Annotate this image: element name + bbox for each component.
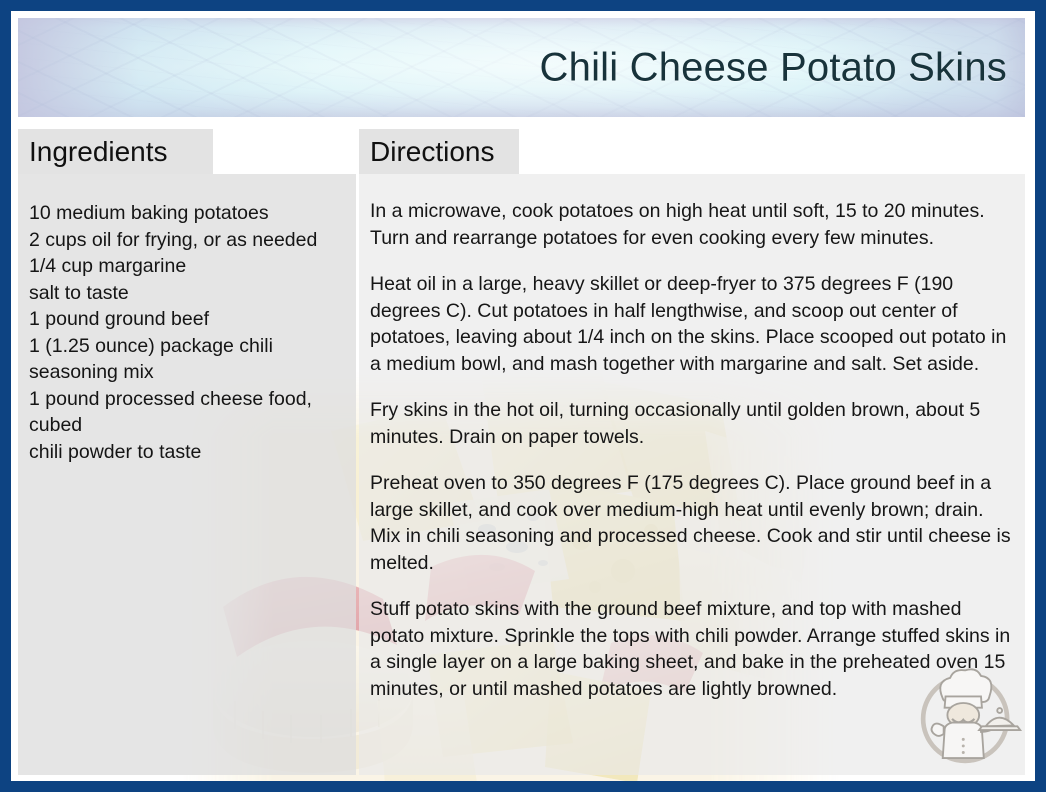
list-item: 1 (1.25 ounce) package chili seasoning m… [29, 333, 346, 386]
direction-step: Heat oil in a large, heavy skillet or de… [370, 271, 1013, 377]
direction-step: Fry skins in the hot oil, turning occasi… [370, 397, 1013, 450]
recipe-page: Chili Cheese Potato Skins [11, 11, 1035, 781]
list-item: 10 medium baking potatoes [29, 200, 346, 227]
direction-step: In a microwave, cook potatoes on high he… [370, 198, 1013, 251]
list-item: salt to taste [29, 280, 346, 307]
ingredients-tab: Ingredients [18, 129, 213, 174]
ingredients-panel: 10 medium baking potatoes 2 cups oil for… [18, 174, 356, 775]
directions-tab: Directions [359, 129, 519, 174]
list-item: 2 cups oil for frying, or as needed [29, 227, 346, 254]
directions-steps: In a microwave, cook potatoes on high he… [370, 198, 1013, 702]
list-item: 1/4 cup margarine [29, 253, 346, 280]
directions-panel: In a microwave, cook potatoes on high he… [359, 174, 1025, 775]
directions-heading: Directions [370, 138, 494, 166]
ingredients-list: 10 medium baking potatoes 2 cups oil for… [29, 200, 346, 465]
list-item: chili powder to taste [29, 439, 346, 466]
direction-step: Stuff potato skins with the ground beef … [370, 596, 1013, 702]
list-item: 1 pound processed cheese food, cubed [29, 386, 346, 439]
direction-step: Preheat oven to 350 degrees F (175 degre… [370, 470, 1013, 576]
list-item: 1 pound ground beef [29, 306, 346, 333]
title-banner: Chili Cheese Potato Skins [18, 18, 1025, 117]
recipe-card: Chili Cheese Potato Skins [0, 0, 1046, 792]
page-title: Chili Cheese Potato Skins [540, 45, 1007, 90]
ingredients-heading: Ingredients [29, 138, 168, 166]
